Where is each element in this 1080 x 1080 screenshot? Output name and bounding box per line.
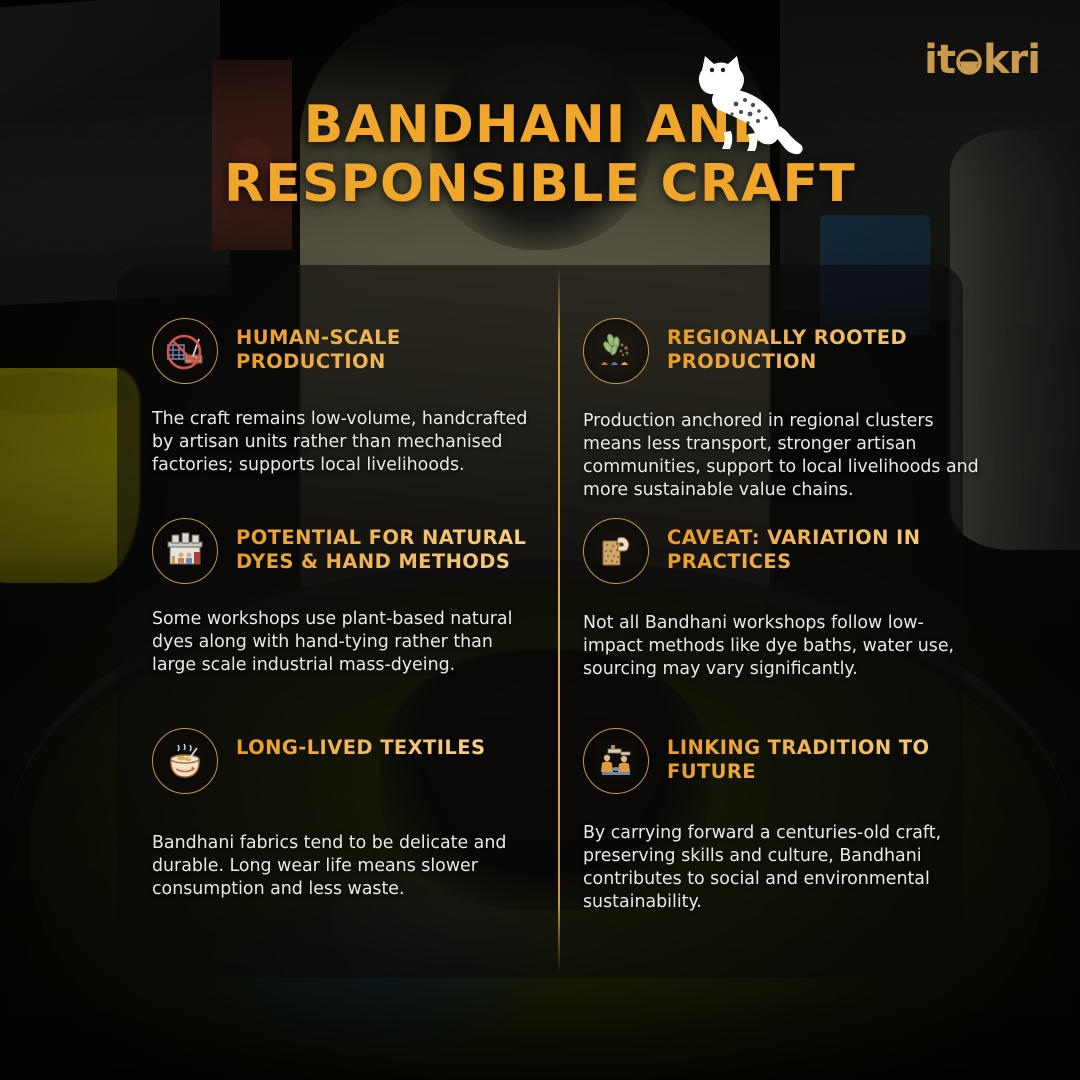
feature-header: HUMAN-SCALE PRODUCTION — [152, 318, 542, 384]
steaming-dye-pot-icon — [152, 728, 218, 794]
feature-heading: POTENTIAL FOR NATURAL DYES & HAND METHOD… — [236, 518, 542, 574]
feature-item-potential-for-natural-dyes[interactable]: POTENTIAL FOR NATURAL DYES & HAND METHOD… — [152, 518, 542, 677]
feature-item-human-scale-production[interactable]: HUMAN-SCALE PRODUCTION The craft remains… — [152, 318, 542, 477]
features-grid: HUMAN-SCALE PRODUCTION The craft remains… — [0, 0, 1080, 1080]
feature-item-caveat-variation-in-practices[interactable]: CAVEAT: VARIATION IN PRACTICES Not all B… — [583, 518, 983, 681]
feature-body: Production anchored in regional clusters… — [583, 410, 983, 503]
hand-holding-fabric-swatch-icon — [583, 518, 649, 584]
feature-heading: LONG-LIVED TEXTILES — [236, 728, 485, 760]
feature-header: POTENTIAL FOR NATURAL DYES & HAND METHOD… — [152, 518, 542, 584]
feature-header: CAVEAT: VARIATION IN PRACTICES — [583, 518, 983, 584]
feature-item-long-lived-textiles[interactable]: LONG-LIVED TEXTILES Bandhani fabrics ten… — [152, 728, 542, 901]
feature-body: Bandhani fabrics tend to be delicate and… — [152, 832, 542, 901]
feature-body: Not all Bandhani workshops follow low-im… — [583, 612, 983, 681]
feature-heading: CAVEAT: VARIATION IN PRACTICES — [667, 518, 983, 574]
feature-body: Some workshops use plant-based natural d… — [152, 608, 542, 677]
two-artisans-working-icon — [583, 728, 649, 794]
infographic-canvas: itkri BANDHANI AND RESPONSIBLE CRAFT — [0, 0, 1080, 1080]
feature-heading: HUMAN-SCALE PRODUCTION — [236, 318, 542, 374]
feature-header: LONG-LIVED TEXTILES — [152, 728, 542, 794]
feature-heading: REGIONALLY ROOTED PRODUCTION — [667, 318, 983, 374]
feature-header: REGIONALLY ROOTED PRODUCTION — [583, 318, 983, 384]
feature-body: The craft remains low-volume, handcrafte… — [152, 408, 542, 477]
feature-header: LINKING TRADITION TO FUTURE — [583, 728, 983, 794]
no-factory-machine-icon — [152, 318, 218, 384]
feature-item-regionally-rooted-production[interactable]: REGIONALLY ROOTED PRODUCTION Production … — [583, 318, 983, 503]
feature-item-linking-tradition-to-future[interactable]: LINKING TRADITION TO FUTURE By carrying … — [583, 728, 983, 915]
feature-body: By carrying forward a centuries-old craf… — [583, 822, 983, 915]
artisan-workshop-building-icon — [152, 518, 218, 584]
feature-heading: LINKING TRADITION TO FUTURE — [667, 728, 983, 784]
natural-dye-plants-icon — [583, 318, 649, 384]
